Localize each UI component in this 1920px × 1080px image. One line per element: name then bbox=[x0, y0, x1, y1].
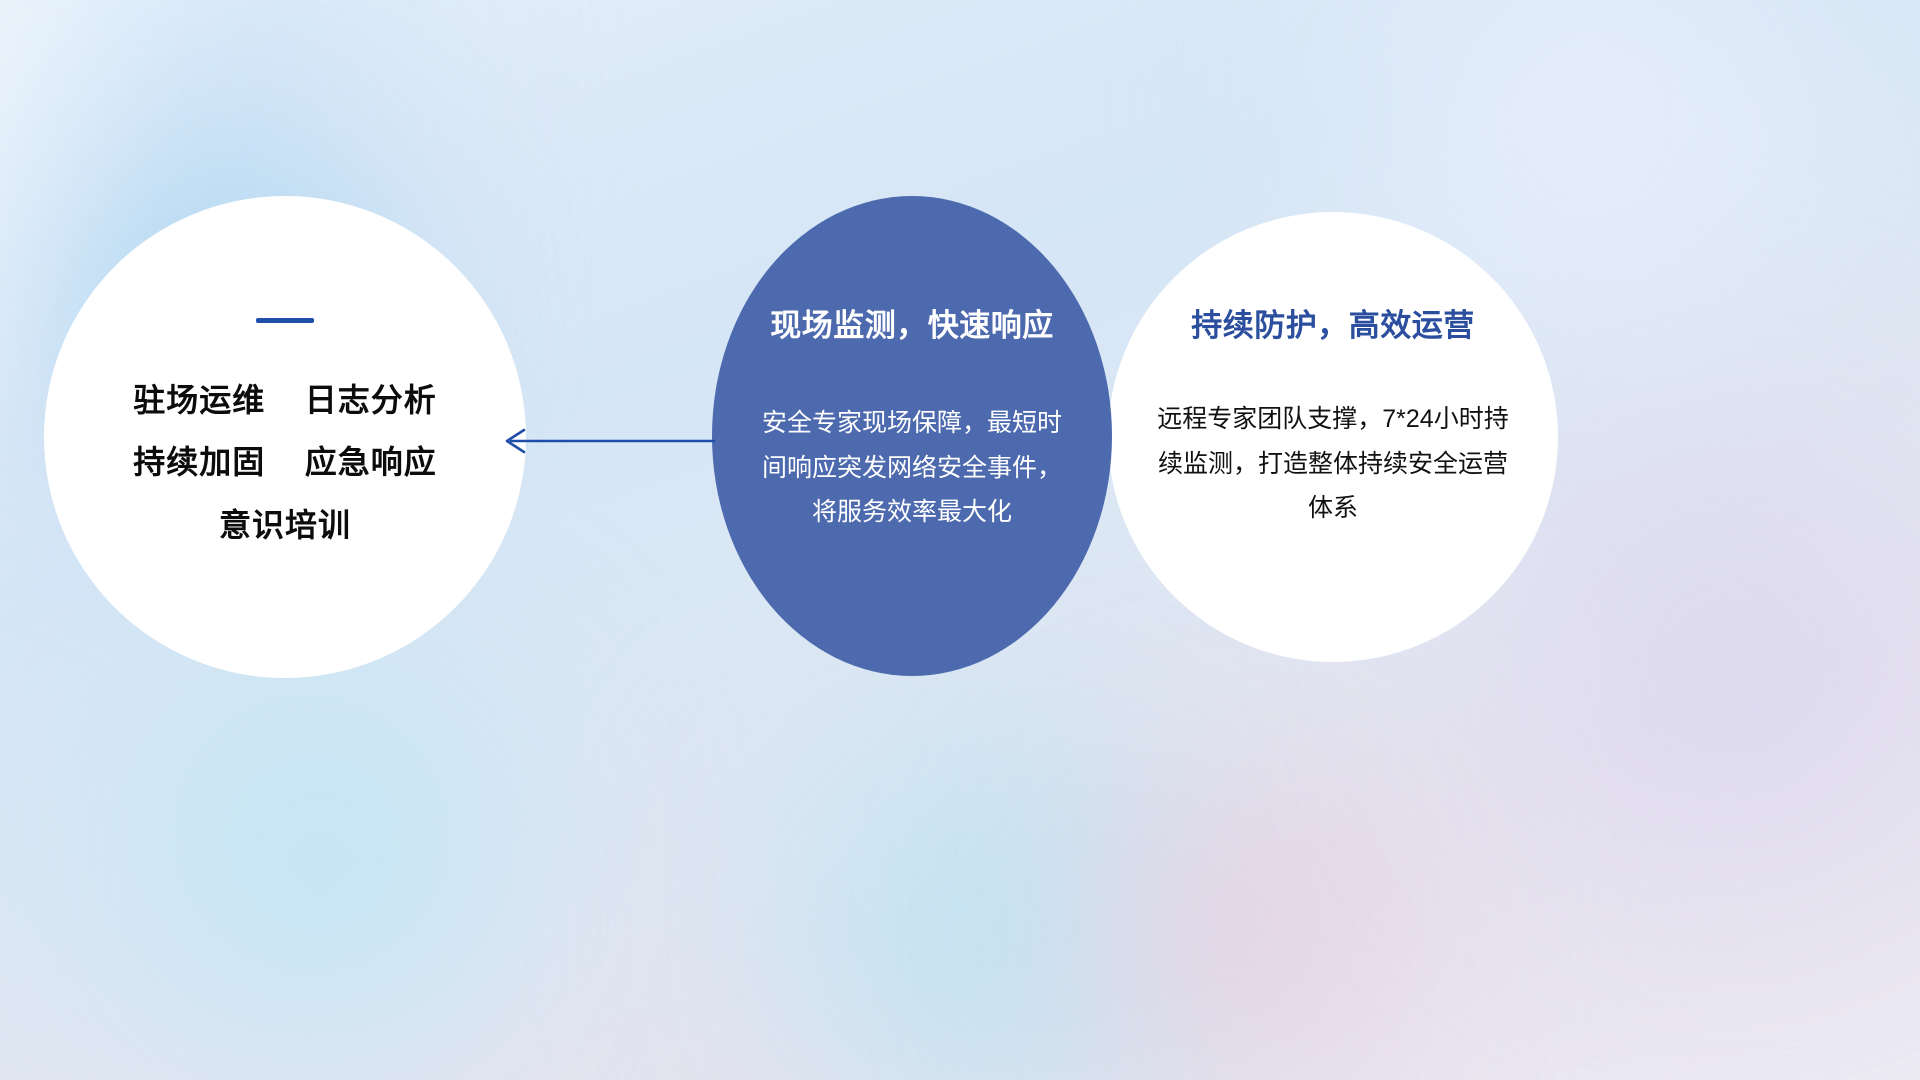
capability-line-3: 意识培训 bbox=[133, 494, 437, 556]
onsite-monitoring-title: 现场监测，快速响应 bbox=[770, 300, 1054, 345]
continuous-protection-title: 持续防护，高效运营 bbox=[1191, 300, 1475, 345]
continuous-protection-circle[interactable]: 持续防护，高效运营 远程专家团队支撑，7*24小时持续监测，打造整体持续安全运营… bbox=[1108, 212, 1558, 662]
capability-line-1: 驻场运维 日志分析 bbox=[133, 369, 437, 431]
left-pointing-arrow bbox=[494, 424, 716, 458]
continuous-protection-body: 远程专家团队支撑，7*24小时持续监测，打造整体持续安全运营体系 bbox=[1153, 397, 1513, 531]
onsite-monitoring-body: 安全专家现场保障，最短时间响应突发网络安全事件，将服务效率最大化 bbox=[762, 401, 1062, 535]
capability-list: 驻场运维 日志分析 持续加固 应急响应 意识培训 bbox=[133, 369, 437, 556]
onsite-monitoring-circle[interactable]: 现场监测，快速响应 安全专家现场保障，最短时间响应突发网络安全事件，将服务效率最… bbox=[712, 196, 1112, 676]
dash-icon bbox=[256, 318, 314, 323]
capability-circle[interactable]: 驻场运维 日志分析 持续加固 应急响应 意识培训 bbox=[44, 196, 526, 678]
capability-line-2: 持续加固 应急响应 bbox=[133, 431, 437, 493]
